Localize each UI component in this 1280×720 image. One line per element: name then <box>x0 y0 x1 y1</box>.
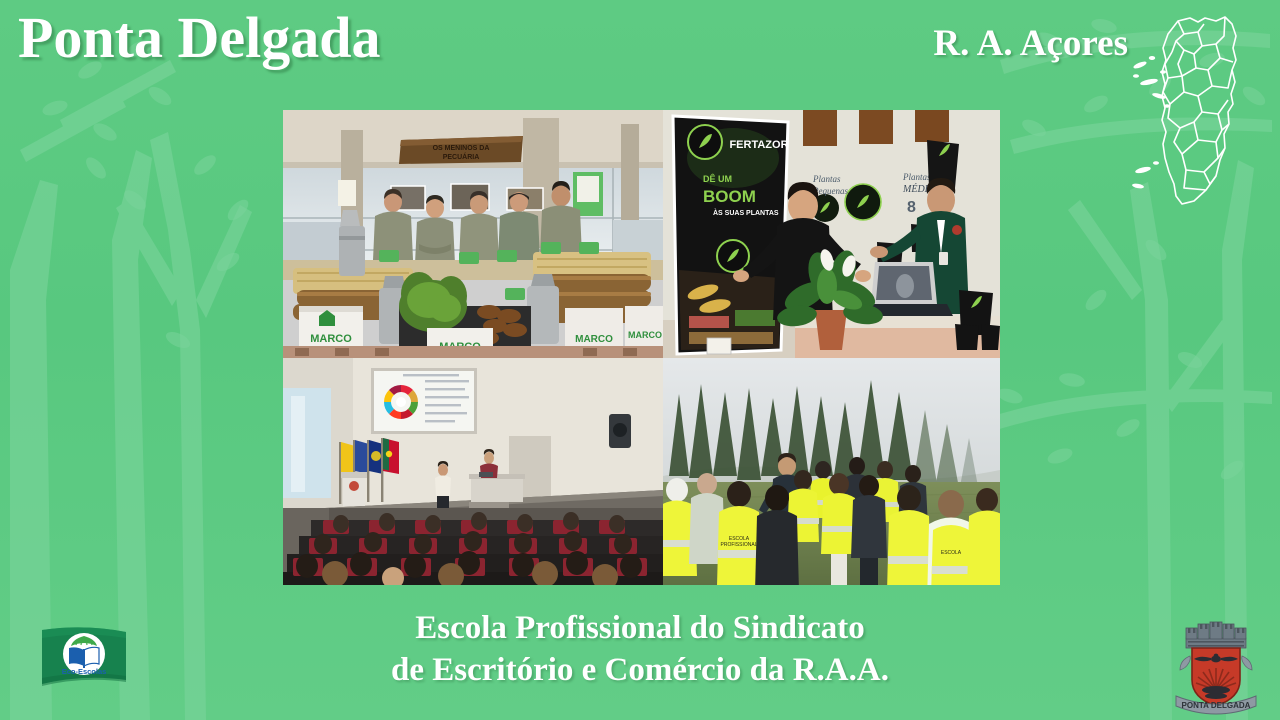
caption-line-1: Escola Profissional do Sindicato <box>0 608 1280 650</box>
eco-escolas-logo-svg: Eco-Escolas <box>38 624 130 694</box>
photo-pecuaria-stand: OS MENINOS DA PECUÁRIA <box>283 110 663 358</box>
svg-text:FERTAZOR: FERTAZOR <box>729 139 788 151</box>
svg-text:PECUÁRIA: PECUÁRIA <box>443 152 480 161</box>
region-subtitle: R. A. Açores <box>933 22 1128 65</box>
caption-line-2: de Escritório e Comércio da R.A.A. <box>0 650 1280 692</box>
svg-text:OS MENINOS DA: OS MENINOS DA <box>433 145 490 152</box>
eco-escolas-logo: Eco-Escolas <box>38 624 130 694</box>
svg-text:8: 8 <box>907 199 916 216</box>
slide-root: Ponta Delgada R. A. Açores <box>0 0 1280 720</box>
svg-text:PROFISSIONAL: PROFISSIONAL <box>721 542 758 548</box>
photo-collage: OS MENINOS DA PECUÁRIA <box>283 110 1000 585</box>
photo-fertazor-booth: FERTAZOR DÊ UM BOOM ÀS SUAS PLANTAS <box>663 110 1000 358</box>
svg-text:MARCO: MARCO <box>575 334 613 345</box>
svg-text:Plantas: Plantas <box>902 172 931 182</box>
portugal-map-icon <box>1132 8 1272 223</box>
svg-text:MARCO: MARCO <box>628 330 662 340</box>
portugal-map-svg <box>1132 8 1272 223</box>
photo-auditorium-session <box>283 358 663 585</box>
svg-text:Plantas: Plantas <box>812 174 841 184</box>
coat-of-arms-ribbon-text: PONTA DELGADA <box>1182 701 1251 710</box>
svg-text:DÊ UM: DÊ UM <box>703 173 732 184</box>
photo-field-trip: ESCOLA PROFISSIONAL <box>663 358 1000 585</box>
svg-text:BOOM: BOOM <box>703 187 756 206</box>
school-caption: Escola Profissional do Sindicato de Escr… <box>0 608 1280 691</box>
page-title: Ponta Delgada <box>18 8 381 69</box>
ponta-delgada-coat-of-arms: PONTA DELGADA <box>1166 612 1266 716</box>
svg-text:MARCO: MARCO <box>310 333 352 345</box>
svg-text:ÀS SUAS PLANTAS: ÀS SUAS PLANTAS <box>713 208 779 217</box>
eco-escolas-label: Eco-Escolas <box>62 667 107 676</box>
coat-of-arms-svg: PONTA DELGADA <box>1166 612 1266 716</box>
svg-text:ESCOLA: ESCOLA <box>941 550 962 556</box>
